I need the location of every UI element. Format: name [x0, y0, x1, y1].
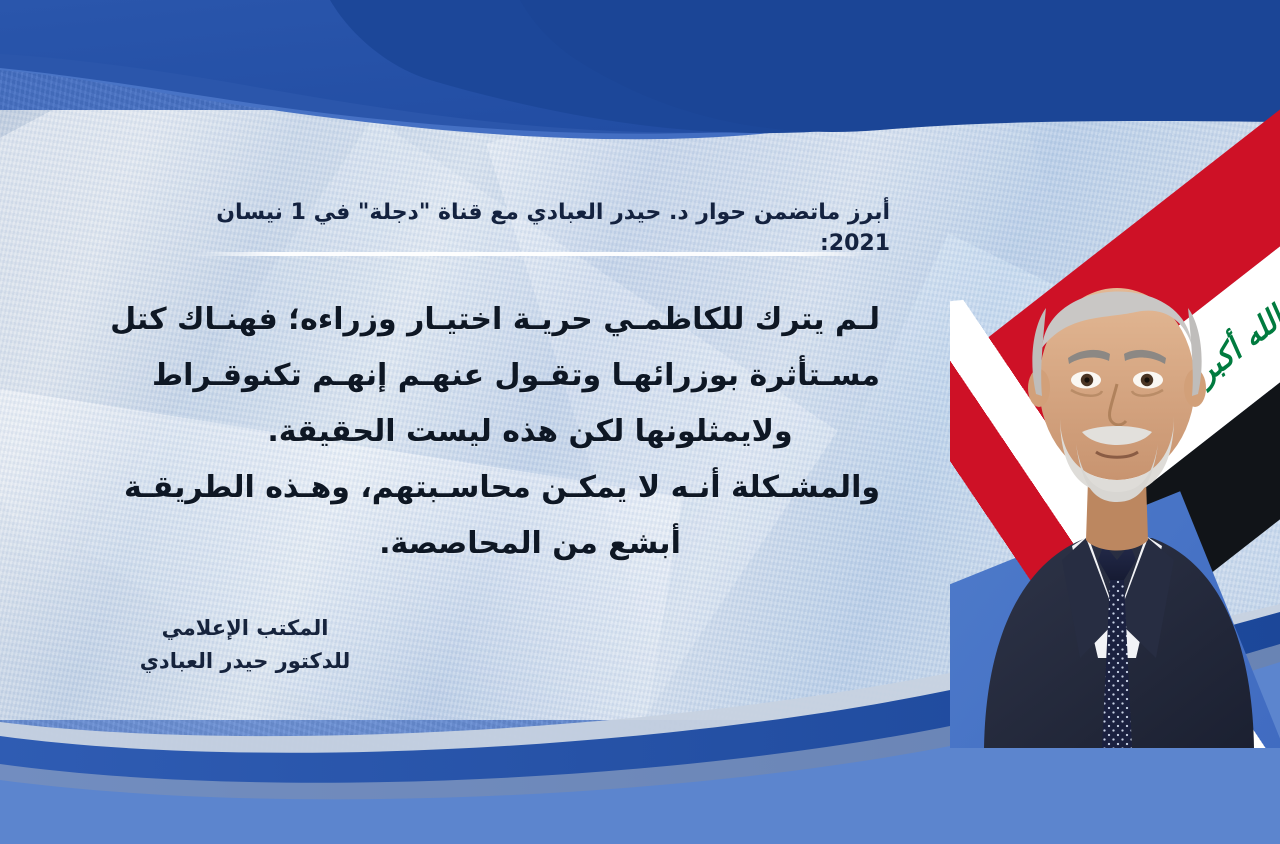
quote-block: لـم يترك للكاظمـي حريـة اختيـار وزراءه؛ … — [180, 292, 880, 572]
text-content: أبرز ماتضمن حوار د. حيدر العبادي مع قناة… — [0, 0, 1280, 844]
header-text: أبرز ماتضمن حوار د. حيدر العبادي مع قناة… — [170, 198, 890, 260]
quote-line-3: ولايمثلونها لكن هذه ليست الحقيقة. — [180, 404, 880, 460]
signature-block: المكتب الإعلامي للدكتور حيدر العبادي — [80, 612, 410, 677]
signature-line-1: المكتب الإعلامي — [80, 612, 410, 645]
quote-card: الله أكبر — [0, 0, 1280, 844]
signature-line-2: للدكتور حيدر العبادي — [80, 645, 410, 678]
quote-line-2: مسـتأثرة بوزرائهـا وتقـول عنهـم إنهـم تك… — [180, 348, 880, 404]
quote-line-5: أبشع من المحاصصة. — [180, 516, 880, 572]
quote-line-1: لـم يترك للكاظمـي حريـة اختيـار وزراءه؛ … — [180, 292, 880, 348]
quote-line-4: والمشـكلة أنـه لا يمكـن محاسـبتهم، وهـذه… — [180, 460, 880, 516]
header-divider — [190, 252, 880, 256]
